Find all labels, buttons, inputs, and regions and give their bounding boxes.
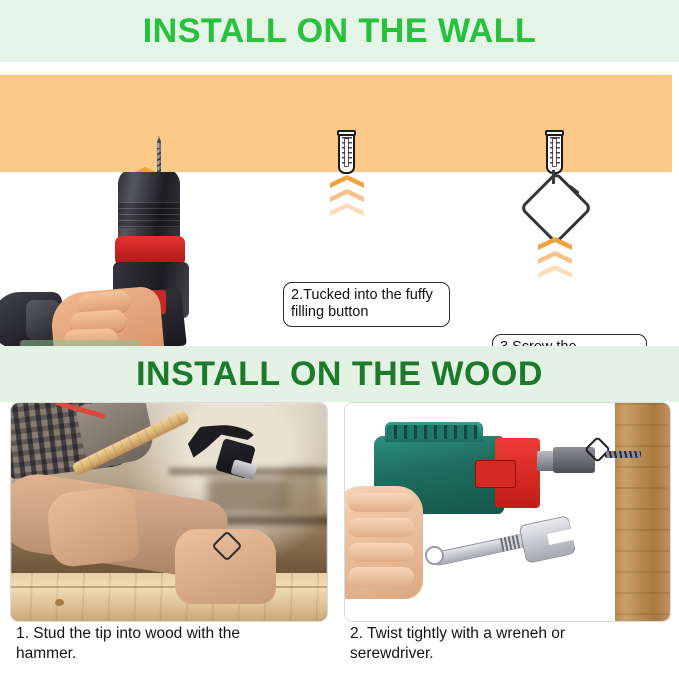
- impact-driver-with-wrench-photo: [344, 402, 671, 622]
- cordless-drill-in-hand-photo: [0, 172, 250, 346]
- wall-section-title: INSTALL ON THE WALL: [143, 12, 537, 51]
- background-object: [283, 468, 321, 516]
- hook-icon: [213, 532, 243, 562]
- wood-grain: [615, 403, 670, 621]
- screw-thread: [605, 451, 641, 458]
- hook-icon: [586, 438, 616, 462]
- wood-section-title: INSTALL ON THE WOOD: [136, 355, 543, 394]
- wall-install-section: 1.Use 0.23" drill bit drill holes 2.Tuck…: [0, 62, 679, 346]
- fist-gripping-handle: [45, 486, 141, 569]
- driver-red-badge: [475, 460, 516, 488]
- infographic-page: INSTALL ON THE WALL: [0, 0, 679, 674]
- wrench-jaw: [518, 515, 576, 564]
- anchor-collar: [545, 130, 564, 136]
- pine-board: [10, 573, 328, 621]
- hand-gripping-driver: [344, 486, 423, 599]
- hook-icon: [524, 170, 592, 244]
- hook-diamond: [519, 171, 593, 245]
- chevron-up-arrows-icon: [330, 175, 364, 221]
- anchor-collar: [337, 130, 356, 136]
- wood-post: [615, 403, 670, 621]
- wood-caption-2: 2. Twist tightly with a wreneh or serewd…: [350, 624, 666, 664]
- wall-surface-band: [0, 75, 672, 172]
- wood-grain: [10, 573, 328, 621]
- hammer-head: [188, 425, 258, 482]
- wall-anchor-icon: [338, 130, 355, 174]
- wall-section-header: INSTALL ON THE WALL: [0, 0, 679, 62]
- wood-install-section: 1. Stud the tip into wood with the hamme…: [0, 402, 679, 674]
- chevron-up-arrows-icon: [538, 237, 572, 283]
- wall-anchor-icon: [546, 130, 563, 174]
- hammer-striking-hook-into-board-photo: [10, 402, 328, 622]
- board-edge: [10, 586, 328, 588]
- anchor-slot: [345, 139, 348, 166]
- wood-knot: [55, 599, 64, 606]
- step-2-callout: 2.Tucked into the fuffy filling button: [283, 282, 450, 327]
- anchor-slot: [553, 139, 556, 166]
- hammer-face: [231, 459, 258, 480]
- wood-section-header: INSTALL ON THE WOOD: [0, 346, 679, 402]
- driver-vents: [387, 425, 478, 439]
- adjustable-wrench-icon: [426, 516, 569, 573]
- wood-caption-1: 1. Stud the tip into wood with the hamme…: [16, 624, 326, 664]
